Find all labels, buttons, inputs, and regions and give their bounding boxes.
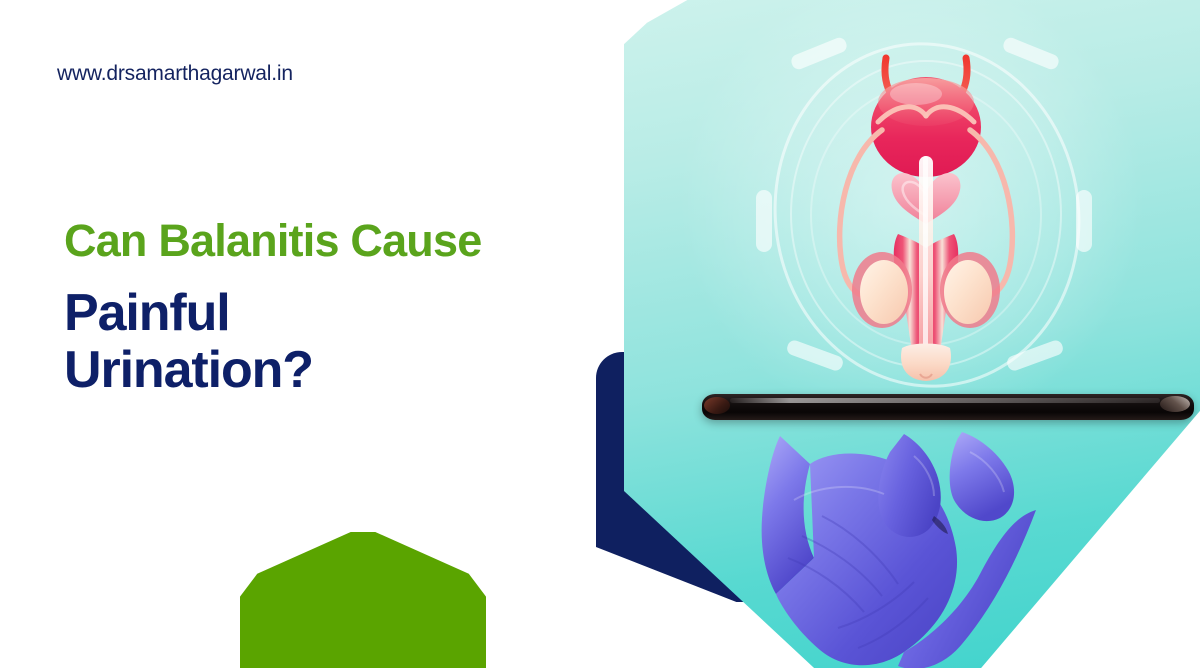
holographic-ring-inner-icon (810, 84, 1042, 346)
epididymis-right (940, 252, 1000, 328)
testicle-left (860, 260, 908, 324)
panel-glow (677, 0, 1147, 435)
epididymis-left (852, 252, 912, 328)
meatus-line (920, 374, 932, 378)
glove-index-finger (762, 436, 814, 594)
glove-palm (776, 454, 957, 666)
glove-ring-finger (950, 432, 1014, 521)
penis-glans (901, 344, 951, 382)
vas-deferens-right (970, 130, 1012, 296)
glove-highlights (794, 452, 1004, 500)
banner-root: www.drsamarthagarwal.in Can Balanitis Ca… (0, 0, 1200, 668)
holographic-bracket-right-icon (1076, 190, 1092, 252)
corpus-cavernosum-right (926, 234, 958, 352)
glove-middle-finger (878, 434, 940, 537)
vas-deferens-left (840, 130, 882, 296)
corpus-cavernosum-left (894, 234, 926, 352)
teal-photo-panel (624, 0, 1200, 668)
ureter-left (885, 58, 906, 110)
headline-line-navy-2: Urination? (64, 342, 564, 399)
headline-block: Can Balanitis Cause Painful Urination? (64, 218, 564, 399)
seminal-vesicle-left (878, 107, 926, 122)
green-pentagon-shape (240, 532, 486, 668)
site-url-text: www.drsamarthagarwal.in (57, 62, 293, 86)
holographic-bracket-bottom-left-icon (785, 339, 845, 373)
glove-thumb (898, 510, 1036, 668)
headline-line-green: Can Balanitis Cause (64, 218, 564, 263)
holographic-ring-middle-icon (790, 60, 1062, 368)
glove-finger-gap (932, 516, 948, 534)
glove-wrinkles (788, 516, 928, 648)
bladder-specular (890, 83, 942, 105)
holographic-bracket-top-left-icon (789, 36, 848, 72)
ureter-right (946, 58, 967, 110)
prostate-highlight (903, 182, 926, 216)
seminal-vesicle-right (926, 107, 974, 122)
tablet-right-corner (1160, 396, 1190, 412)
urethra-core (923, 156, 928, 354)
male-reproductive-anatomy-illustration (820, 52, 1032, 382)
tablet-device (702, 394, 1194, 420)
tablet-edge-highlight (730, 398, 1160, 403)
holographic-ring-outer-icon (751, 22, 1102, 407)
bladder-highlight (878, 78, 974, 126)
tablet-left-corner (704, 397, 730, 414)
prostate-gland (892, 173, 961, 224)
holographic-bracket-left-icon (756, 190, 772, 252)
holographic-bracket-bottom-right-icon (1005, 339, 1065, 373)
holographic-bracket-top-right-icon (1001, 36, 1060, 72)
headline-line-navy-1: Painful (64, 285, 564, 342)
testicle-right (944, 260, 992, 324)
urinary-bladder (871, 77, 981, 177)
gloved-hand-illustration (718, 408, 1138, 668)
urethra-channel (919, 156, 933, 354)
